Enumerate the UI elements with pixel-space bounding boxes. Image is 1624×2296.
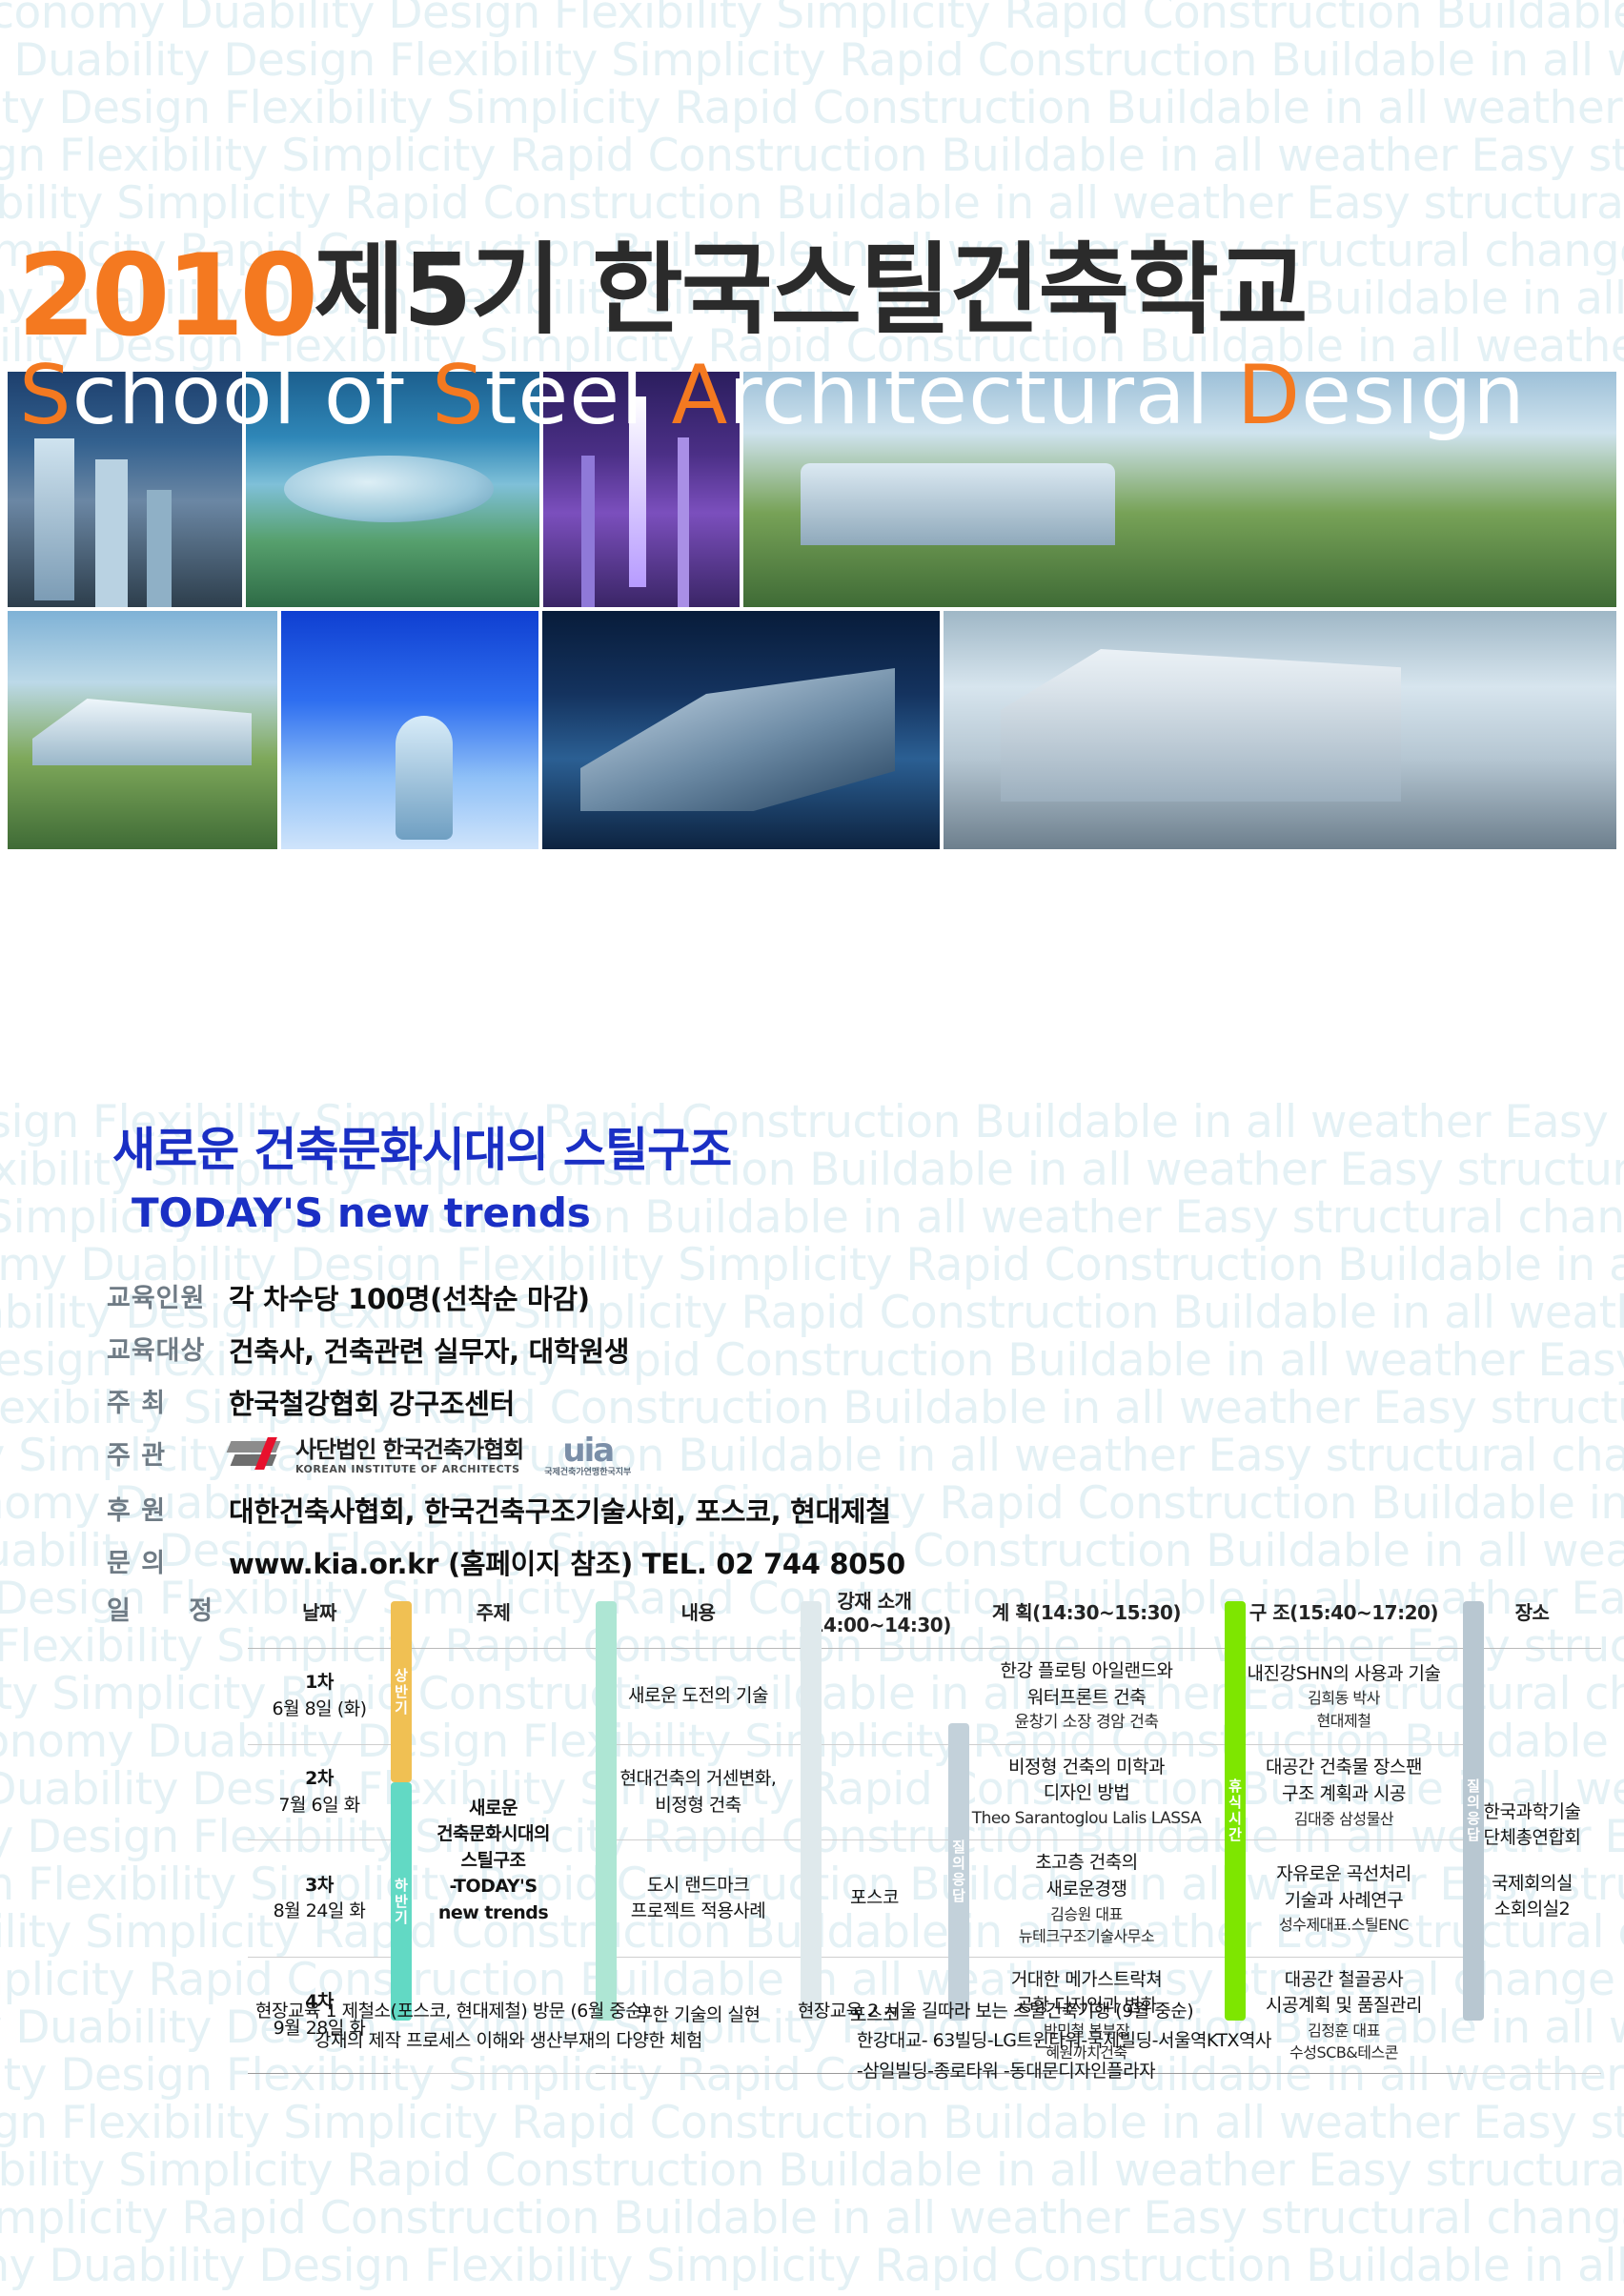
info-row-3: 주 관사단법인 한국건축가협회KOREAN INSTITUTE OF ARCHI… [107,1434,1250,1477]
headline-block: 새로운 건축문화시대의 스틸구조 TODAY'S new trends [112,1125,731,1236]
subtitle-part-6: D [1237,348,1301,443]
cell-line: 현대제철 [1228,1710,1459,1732]
watermark-line: Economy Duability Design Flexibility Sim… [0,2240,1624,2292]
cell-line: 워터프론트 건축 [952,1685,1221,1712]
title-korean: 제5기 한국스틸건축학교 [314,232,1306,348]
kia-logo-english: KOREAN INSTITUTE OF ARCHITECTS [295,1464,523,1474]
cell-line: 도시 랜드마크 [599,1873,797,1900]
schedule-col-header-5: 구 조(15:40~17:20) [1225,1580,1463,1649]
cell-line: 윤창기 소장 경암 건축 [952,1711,1221,1735]
photo-curved-facade [542,611,940,849]
session-no: 1차 [252,1670,387,1697]
cell-line: 대공간 철골공사 [1228,1967,1459,1994]
info-label: 교육대상 [107,1330,229,1367]
cell-line: 비정형 건축 [599,1793,797,1819]
cell-line: new trends [395,1900,592,1927]
headline-english: TODAY'S new trends [132,1189,731,1236]
uia-logo-korean: 국제건축가연맹한국지부 [544,1469,631,1477]
info-value[interactable]: www.kia.or.kr (홈페이지 참조) TEL. 02 744 8050 [229,1542,905,1582]
info-row-0: 교육인원각 차수당 100명(선착순 마감) [107,1277,1250,1317]
photo-row-2 [8,611,1616,849]
cell-line: 디자인 방법 [952,1780,1221,1807]
cell-line: 새로운경쟁 [952,1877,1221,1903]
cell-plan: 한강 플로팅 아일랜드와워터프론트 건축윤창기 소장 경암 건축 [948,1649,1225,1745]
info-row-5: 문 의www.kia.or.kr (홈페이지 참조) TEL. 02 744 8… [107,1542,1250,1582]
cell-structure: 내진강SHN의 사용과 기술김희동 박사현대제철 [1225,1649,1463,1745]
info-label: 교육인원 [107,1277,229,1314]
watermark-line: Economy Duability Design Flexibility Sim… [0,2144,1624,2197]
schedule-bar-label: 질의응답 [949,1839,969,1904]
cell-steel [801,1744,948,1840]
cell-content: 도시 랜드마크프로젝트 적용사례 [596,1840,801,1957]
cell-content: 새로운 도전의 기술 [596,1649,801,1745]
cell-line: 현대건축의 거센변화, [599,1766,797,1793]
cell-line: 새로운 [395,1796,592,1822]
cell-line: 기술과 사례연구 [1228,1888,1459,1915]
session-no: 3차 [252,1873,387,1900]
cell-line: 초고층 건축의 [952,1850,1221,1877]
info-list: 교육인원각 차수당 100명(선착순 마감)교육대상건축사, 건축관련 실무자,… [107,1277,1250,1595]
session-date: 8월 24일 화 [252,1899,387,1925]
cell-line: 성수제대표.스틸ENC [1228,1914,1459,1936]
cell-content: 현대건축의 거센변화,비정형 건축 [596,1744,801,1840]
cell-line: 단체총연합회 [1467,1825,1597,1852]
main-title: 2010제5기 한국스틸건축학교 [17,240,1618,351]
cell-line: 스틸구조 [395,1848,592,1875]
subtitle-part-0: S [19,348,72,443]
subtitle-part-7: esign [1301,348,1526,443]
cell-line: 뉴테크구조기술사무소 [952,1925,1221,1947]
organizer-logos: 사단법인 한국건축가협회KOREAN INSTITUTE OF ARCHITEC… [229,1434,631,1477]
cell-line: 비정형 건축의 미학과 [952,1755,1221,1781]
uia-logo: uia국제건축가연맹한국지부 [544,1434,631,1477]
cell-line: 프로젝트 적용사례 [599,1899,797,1925]
cell-steel: 포스코 [801,1840,948,1957]
info-row-4: 후 원대한건축사협회, 한국건축구조기술사회, 포스코, 현대제철 [107,1490,1250,1530]
watermark-line: Economy Duability Design Flexibility Sim… [0,2097,1624,2149]
cell-line: 한강 플로팅 아일랜드와 [952,1658,1221,1685]
kia-logo: 사단법인 한국건축가협회KOREAN INSTITUTE OF ARCHITEC… [229,1437,523,1475]
kia-logo-korean: 사단법인 한국건축가협회 [295,1438,523,1461]
schedule-section-label: 일 정 [107,1590,237,1627]
kia-mark-icon [229,1437,288,1475]
uia-logo-mark: uia [544,1434,631,1467]
info-value: 한국철강협회 강구조센터 [229,1382,515,1422]
info-label: 후 원 [107,1490,229,1527]
cell-line: 거대한 메가스트락쳐 [952,1967,1221,1994]
subtitle-part-1: chool of [72,348,432,443]
cell-line: 자유로운 곡선처리 [1228,1861,1459,1888]
schedule-bar-강재-bar [801,1601,822,2021]
cell-steel [801,1649,948,1745]
session-no: 2차 [252,1766,387,1793]
venue-gap [1467,1852,1597,1871]
schedule-col-header-0: 날짜 [248,1580,391,1649]
cell-line: 김희동 박사 [1228,1687,1459,1709]
schedule-bar-label: 하반기 [392,1878,412,1926]
schedule-bar-label: 휴식시간 [1226,1778,1246,1843]
watermark-line: Economy Duability Design Flexibility Sim… [0,2192,1624,2245]
subtitle-part-2: S [432,348,485,443]
footnote-title: 현장교육 1 제철소(포스코, 현대제철) 방문 (6월 중순) [255,1997,702,2026]
cell-line: 구조 계획과 시공 [1228,1781,1459,1808]
info-label: 주 관 [107,1434,229,1472]
footnote-1: 현장교육 2 서울 길따라 보는 스틸건축기행 (9월 중순)한강대교- 63빌… [798,1997,1271,2086]
subtitle-part-3: teel [485,348,672,443]
title-year: 2010 [17,231,314,362]
schedule-bar-휴식시간: 휴식시간 [1225,1601,1246,2021]
cell-structure: 자유로운 곡선처리기술과 사례연구성수제대표.스틸ENC [1225,1840,1463,1957]
kia-logo-text: 사단법인 한국건축가협회KOREAN INSTITUTE OF ARCHITEC… [295,1438,523,1474]
footnote-line: 강재의 제작 프로세스 이해와 생산부재의 다양한 체험 [255,2026,702,2056]
poster-root: Economy Duability Design Flexibility Sim… [0,0,1624,2296]
info-value: 각 차수당 100명(선착순 마감) [229,1277,590,1317]
footnote-0: 현장교육 1 제철소(포스코, 현대제철) 방문 (6월 중순)강재의 제작 프… [255,1997,702,2086]
schedule-bar-하반기: 하반기 [391,1782,412,2021]
photo-atrium-interior [944,611,1616,849]
info-value: 대한건축사협회, 한국건축구조기술사회, 포스코, 현대제철 [229,1490,891,1530]
cell-line: -TODAY'S [395,1874,592,1900]
cell-line: 대공간 건축물 장스팬 [1228,1755,1459,1781]
photo-tower-sky [281,611,538,849]
schedule-header-row: 날짜주제내용강재 소개(14:00~14:30)계 획(14:30~15:30)… [248,1580,1601,1649]
footnote-title: 현장교육 2 서울 길따라 보는 스틸건축기행 (9월 중순) [798,1997,1271,2026]
subtitle-part-4: A [671,348,728,443]
cell-line: 새로운 도전의 기술 [599,1683,797,1710]
cell-line: 소회의실2 [1467,1897,1597,1923]
schedule-bar-질의응답-1: 질의응답 [948,1723,969,2021]
cell-line: 김대중 삼성물산 [1228,1808,1459,1830]
subtitle-part-5: rchitectural [728,348,1237,443]
schedule-bar-label: 상반기 [392,1668,412,1717]
info-value: 건축사, 건축관련 실무자, 대학원생 [229,1330,629,1370]
schedule-bar-label: 질의응답 [1464,1778,1484,1843]
cell-line: 김승원 대표 [952,1903,1221,1925]
schedule-bar-질의응답-2: 질의응답 [1463,1601,1484,2021]
schedule-bar-상반기: 상반기 [391,1601,412,1782]
cell-date: 1차6월 8일 (화) [248,1649,391,1745]
footnotes: 현장교육 1 제철소(포스코, 현대제철) 방문 (6월 중순)강재의 제작 프… [255,1997,1590,2086]
schedule-col-header-4: 계 획(14:30~15:30) [948,1580,1225,1649]
session-date: 7월 6일 화 [252,1793,387,1819]
schedule-bar-주제-bar [596,1601,617,2021]
session-date: 6월 8일 (화) [252,1697,387,1723]
footnote-line: 한강대교- 63빌딩-LG트윈타워-국제빌딩-서울역KTX역사 [798,2026,1271,2056]
info-row-2: 주 최한국철강협회 강구조센터 [107,1382,1250,1422]
cell-date: 2차7월 6일 화 [248,1744,391,1840]
schedule-col-header-3: 강재 소개(14:00~14:30) [801,1580,948,1649]
info-row-1: 교육대상건축사, 건축관련 실무자, 대학원생 [107,1330,1250,1370]
footnote-line: -삼일빌딩-종로타워 -동대문디자인플라자 [798,2057,1271,2086]
cell-plan: 비정형 건축의 미학과디자인 방법Theo Sarantoglou Lalis … [948,1744,1225,1840]
cell-line: 국제회의실 [1467,1871,1597,1898]
schedule-col-header-1: 주제 [391,1580,596,1649]
cell-line: 내진강SHN의 사용과 기술 [1228,1661,1459,1688]
cell-line: 건축문화시대의 [395,1821,592,1848]
schedule-col-header-2: 내용 [596,1580,801,1649]
cell-line: Theo Sarantoglou Lalis LASSA [952,1807,1221,1831]
cell-date: 3차8월 24일 화 [248,1840,391,1957]
sub-title: School of Steel Architectural Design [19,355,1620,446]
headline-korean: 새로운 건축문화시대의 스틸구조 [112,1125,731,1176]
cell-plan: 초고층 건축의새로운경쟁김승원 대표뉴테크구조기술사무소 [948,1840,1225,1957]
schedule-row-0: 1차6월 8일 (화)새로운건축문화시대의스틸구조-TODAY'Snew tre… [248,1649,1601,1745]
cell-structure: 대공간 건축물 장스팬구조 계획과 시공김대중 삼성물산 [1225,1744,1463,1840]
info-label: 문 의 [107,1542,229,1579]
info-label: 주 최 [107,1382,229,1419]
cell-line: 한국과학기술 [1467,1799,1597,1826]
photo-terminal-roof [8,611,277,849]
